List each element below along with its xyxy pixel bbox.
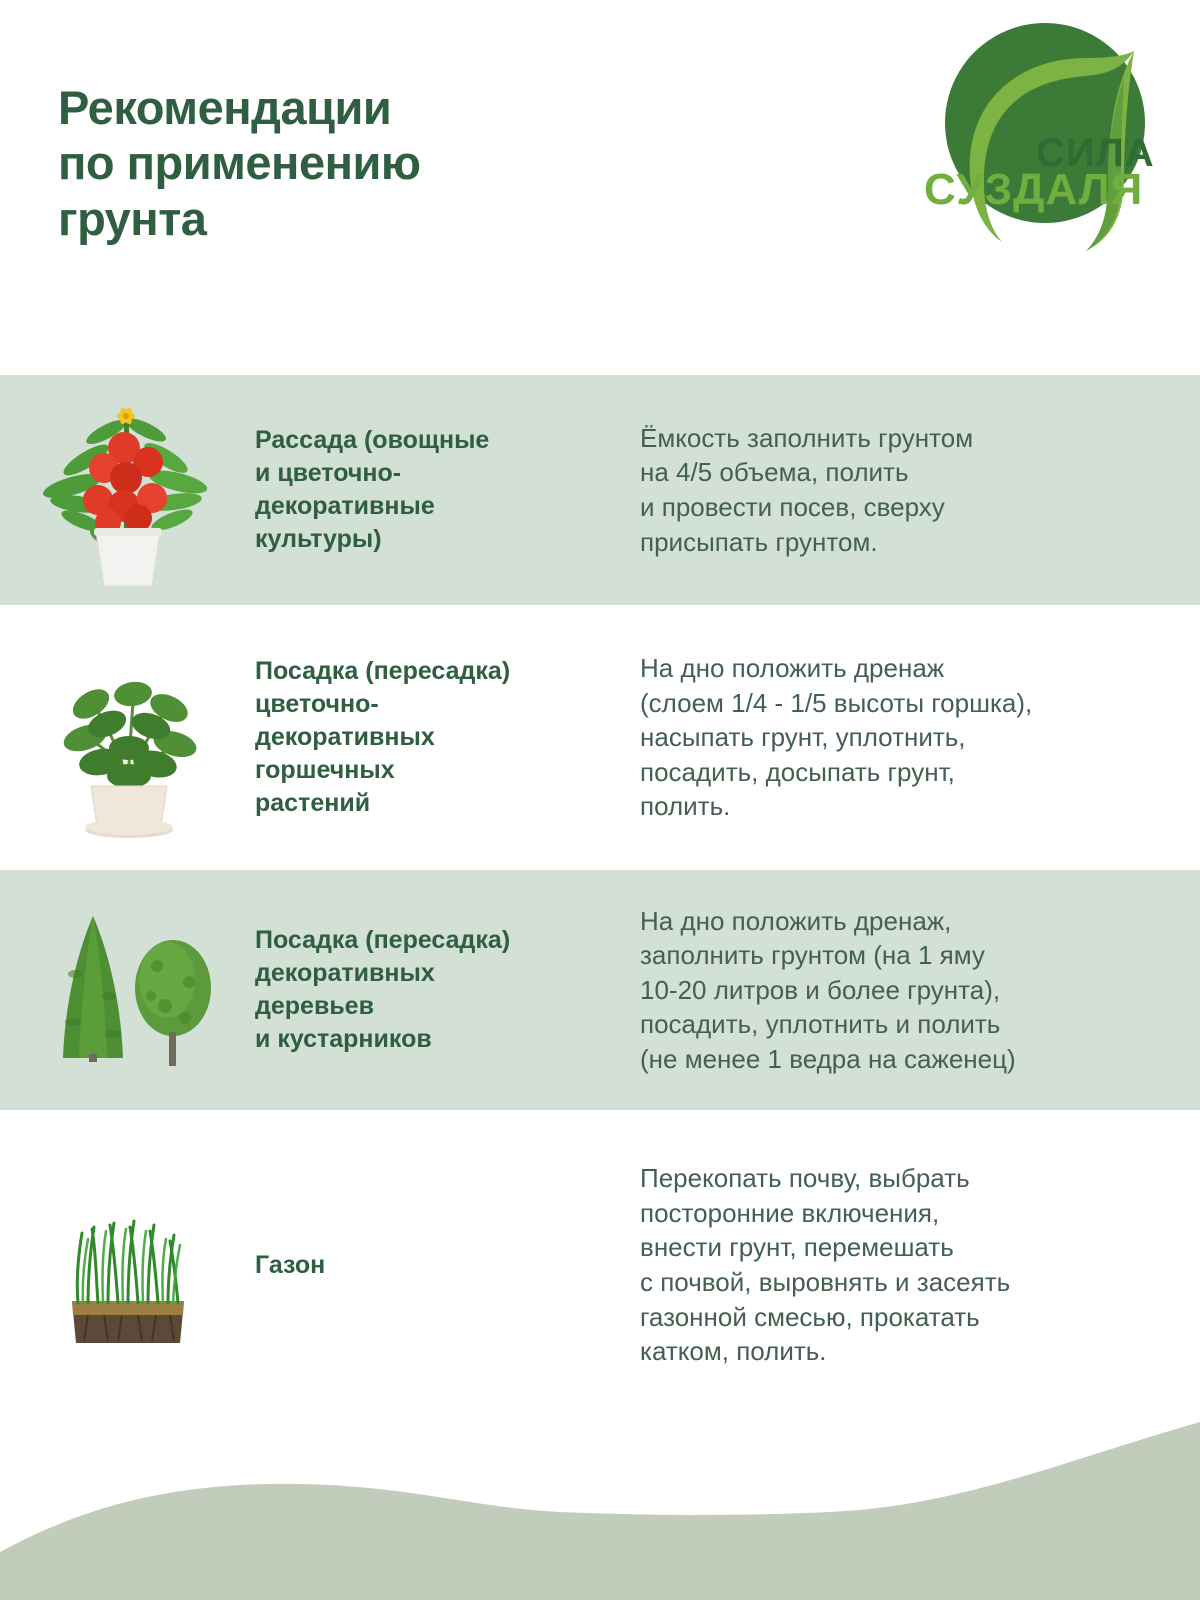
tomato-seedling-in-pot-icon xyxy=(0,375,255,605)
infographic-page: Рекомендации по применению грунта СИЛА С… xyxy=(0,0,1200,1600)
conifer-and-shrub-trees-icon xyxy=(0,870,255,1110)
row-title: Рассада (овощные и цветочно- декоративны… xyxy=(255,424,640,556)
page-header: Рекомендации по применению грунта СИЛА С… xyxy=(0,0,1200,375)
row-seedlings: Рассада (овощные и цветочно- декоративны… xyxy=(0,375,1200,605)
row-description: Ёмкость заполнить грунтом на 4/5 объема,… xyxy=(640,421,1200,559)
row-title: Посадка (пересадка) декоративных деревье… xyxy=(255,924,640,1056)
bottom-wave-decoration xyxy=(0,1400,1200,1600)
row-potted-plants: Посадка (пересадка) цветочно- декоративн… xyxy=(0,605,1200,870)
recommendation-rows: Рассада (овощные и цветочно- декоративны… xyxy=(0,375,1200,1420)
page-title: Рекомендации по применению грунта xyxy=(58,80,678,246)
brand-logo: СИЛА СУЗДАЛЯ xyxy=(910,18,1160,273)
logo-text-bottom: СУЗДАЛЯ xyxy=(924,165,1143,214)
row-trees-shrubs: Посадка (пересадка) декоративных деревье… xyxy=(0,870,1200,1110)
row-description: На дно положить дренаж, заполнить грунто… xyxy=(640,904,1200,1077)
row-title: Газон xyxy=(255,1249,640,1282)
row-description: На дно положить дренаж (слоем 1/4 - 1/5 … xyxy=(640,651,1200,824)
row-lawn: Газон Перекопать почву, выбрать посторон… xyxy=(0,1110,1200,1420)
row-title: Посадка (пересадка) цветочно- декоративн… xyxy=(255,655,640,820)
lawn-grass-sod-icon xyxy=(0,1110,255,1420)
potted-houseplant-icon xyxy=(0,605,255,870)
row-description: Перекопать почву, выбрать посторонние вк… xyxy=(640,1161,1200,1368)
